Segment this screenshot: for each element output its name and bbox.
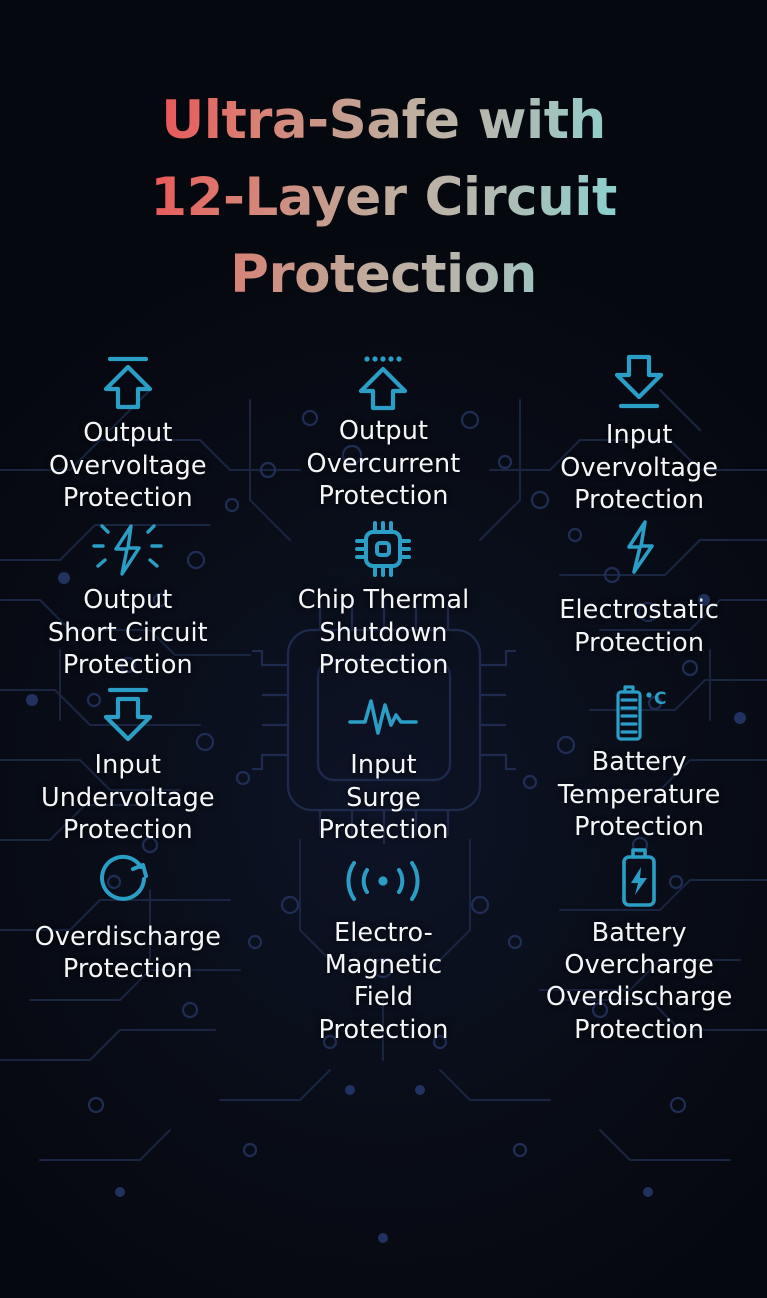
feature-battery-temperature: C Battery Temperature Protection bbox=[511, 681, 767, 846]
feature-label: Chip Thermal Shutdown Protection bbox=[298, 584, 470, 681]
feature-input-undervoltage: Input Undervoltage Protection bbox=[0, 681, 256, 846]
feature-label: Output Overvoltage Protection bbox=[49, 417, 207, 514]
feature-chip-thermal-shutdown: Chip Thermal Shutdown Protection bbox=[256, 516, 512, 681]
title-line-3: Protection bbox=[0, 236, 767, 313]
feature-label: Output Overcurrent Protection bbox=[307, 415, 461, 512]
feature-label: Electrostatic Protection bbox=[559, 594, 719, 659]
feature-input-overvoltage: Input Overvoltage Protection bbox=[511, 349, 767, 516]
feature-label: Overdischarge Protection bbox=[35, 921, 221, 986]
feature-label: Battery Overcharge Overdischarge Protect… bbox=[546, 917, 732, 1047]
waveform-pulse-icon bbox=[346, 681, 420, 743]
feature-electro-magnetic-field: Electro- Magnetic Field Protection bbox=[256, 847, 512, 1047]
arrow-up-with-dotted-line-icon bbox=[353, 349, 413, 411]
emf-waves-icon bbox=[346, 847, 420, 909]
feature-overdischarge: Overdischarge Protection bbox=[0, 847, 256, 1047]
feature-output-overcurrent: Output Overcurrent Protection bbox=[256, 349, 512, 516]
title-line-1: Ultra-Safe with bbox=[0, 82, 767, 159]
svg-text:C: C bbox=[654, 689, 666, 709]
lightning-bolt-sparks-icon bbox=[91, 516, 165, 578]
title-line-2: 12-Layer Circuit bbox=[0, 159, 767, 236]
feature-label: Input Overvoltage Protection bbox=[560, 419, 718, 516]
page-title: Ultra-Safe with 12-Layer Circuit Protect… bbox=[0, 36, 767, 314]
feature-label: Input Undervoltage Protection bbox=[41, 749, 215, 846]
arrow-down-with-bar-above-icon bbox=[98, 681, 158, 743]
battery-temperature-icon: C bbox=[608, 681, 670, 743]
poster-root: Ultra-Safe with 12-Layer Circuit Protect… bbox=[0, 0, 767, 1298]
feature-battery-overcharge-overdischarge: Battery Overcharge Overdischarge Protect… bbox=[511, 847, 767, 1047]
arrow-up-with-bar-above-icon bbox=[98, 349, 158, 411]
feature-output-overvoltage: Output Overvoltage Protection bbox=[0, 349, 256, 516]
feature-label: Output Short Circuit Protection bbox=[48, 584, 208, 681]
chip-icon bbox=[352, 516, 414, 578]
feature-label: Input Surge Protection bbox=[318, 749, 448, 846]
feature-label: Electro- Magnetic Field Protection bbox=[318, 917, 448, 1047]
battery-bolt-icon bbox=[615, 847, 663, 909]
feature-output-short-circuit: Output Short Circuit Protection bbox=[0, 516, 256, 681]
lightning-bolt-icon bbox=[613, 516, 665, 578]
feature-label: Battery Temperature Protection bbox=[558, 746, 721, 843]
feature-electrostatic: Electrostatic Protection bbox=[511, 516, 767, 681]
arrow-down-with-bar-below-icon bbox=[609, 349, 669, 411]
circular-arrow-icon bbox=[98, 847, 158, 909]
feature-grid: Output Overvoltage Protection bbox=[0, 349, 767, 1046]
feature-input-surge: Input Surge Protection bbox=[256, 681, 512, 846]
